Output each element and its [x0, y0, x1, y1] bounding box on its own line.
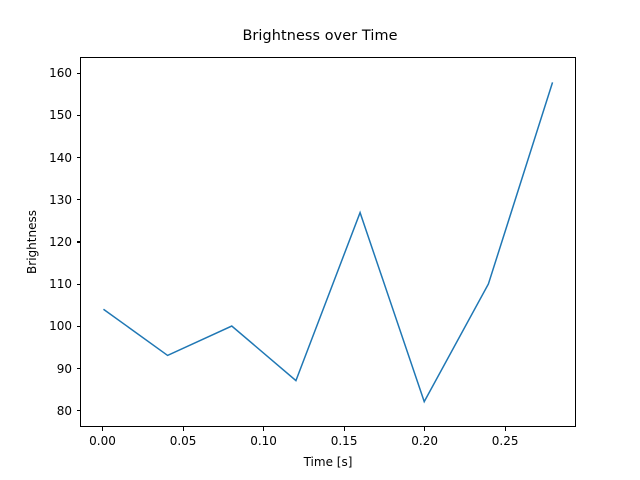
x-tick-label: 0.05 — [170, 434, 197, 448]
x-tick-mark — [102, 427, 103, 431]
brightness-line-series — [103, 82, 552, 401]
x-tick-mark — [344, 427, 345, 431]
x-tick-mark — [505, 427, 506, 431]
x-tick-label: 0.15 — [331, 434, 358, 448]
x-tick-label: 0.20 — [411, 434, 438, 448]
x-tick-label: 0.25 — [492, 434, 519, 448]
line-series-svg — [81, 58, 575, 426]
x-tick-mark — [424, 427, 425, 431]
chart-title: Brightness over Time — [0, 28, 640, 44]
x-tick-label: 0.00 — [89, 434, 116, 448]
y-axis-label: Brightness — [22, 57, 42, 427]
x-axis-label: Time [s] — [80, 455, 576, 469]
x-tick-mark — [183, 427, 184, 431]
x-tick-mark — [263, 427, 264, 431]
plot-axes-area — [80, 57, 576, 427]
x-tick-label: 0.10 — [250, 434, 277, 448]
chart-figure: Brightness over Time 8090100110120130140… — [0, 0, 640, 480]
